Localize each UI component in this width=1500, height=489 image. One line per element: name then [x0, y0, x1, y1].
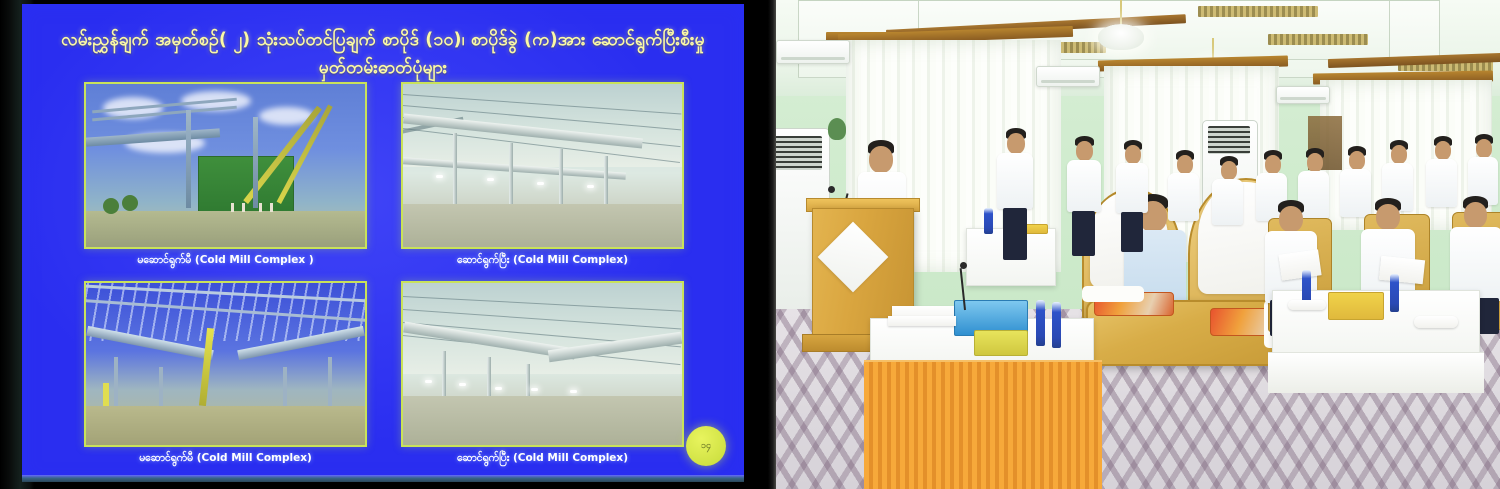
split-air-conditioner — [1036, 66, 1100, 87]
split-air-conditioner — [1276, 86, 1330, 104]
split-air-conditioner — [776, 40, 850, 64]
slide-photo-grid: မဆောင်ရွက်မီ (Cold Mill Complex ) — [84, 82, 684, 467]
ceiling-decor-panel — [1268, 34, 1368, 45]
slide-photo-cell-top-right: ဆောင်ရွက်ပြီး (Cold Mill Complex) — [401, 82, 684, 269]
seated-attendee — [1210, 156, 1246, 244]
photo-open-steel-frame — [84, 281, 367, 448]
tissue-box — [1328, 292, 1384, 320]
photo-caption: မဆောင်ရွက်မီ (Cold Mill Complex ) — [84, 254, 367, 269]
water-bottle — [1036, 300, 1045, 346]
seated-attendee — [1166, 150, 1202, 240]
slide-title-line1: လမ်းညွှန်ချက် အမှတ်စဉ်( ၂) သုံးသပ်တင်ပြခ… — [61, 30, 705, 50]
water-bottle — [1052, 302, 1061, 348]
podium-microphone-head — [828, 186, 835, 193]
attendee-head — [1177, 155, 1193, 174]
attendee-head — [1476, 139, 1492, 158]
snack-plate — [1414, 316, 1458, 328]
slide-bottom-edge — [22, 475, 744, 482]
attendee-head — [1279, 206, 1303, 232]
attendee-trousers — [1003, 208, 1027, 260]
potted-plant — [828, 118, 846, 140]
attendee-trousers — [1072, 211, 1095, 256]
armrest-lace — [1082, 286, 1144, 302]
photo-caption: မဆောင်ရွက်မီ (Cold Mill Complex) — [84, 452, 367, 467]
photo-crane-erection — [84, 82, 367, 249]
standing-attendee — [994, 128, 1036, 260]
attendee-head — [1376, 204, 1400, 230]
snack-plate — [1288, 300, 1326, 310]
attendee-head — [1435, 141, 1451, 160]
chandelier-body — [1098, 24, 1144, 50]
tissue-box — [974, 330, 1028, 356]
meeting-hall-photo — [768, 0, 1500, 489]
front-table-skirt — [864, 360, 1102, 489]
slide-photo-cell-bottom-left: မဆောင်ရွက်မီ (Cold Mill Complex) — [84, 281, 367, 468]
attendee-head — [1307, 153, 1323, 172]
stacked-papers — [888, 316, 956, 326]
slide-title: လမ်းညွှန်ချက် အမှတ်စဉ်( ၂) သုံးသပ်တင်ပြခ… — [52, 26, 714, 83]
attendee-head — [1464, 202, 1487, 228]
attendee-head — [1265, 155, 1281, 174]
attendee-head — [1007, 133, 1025, 154]
chandelier — [1098, 0, 1144, 56]
standing-attendee — [1114, 140, 1152, 250]
photo-caption: ဆောင်ရွက်ပြီး (Cold Mill Complex) — [401, 452, 684, 467]
green-factory-building — [198, 156, 295, 217]
chandelier-rod — [1120, 0, 1122, 26]
held-document — [1278, 249, 1321, 280]
standing-attendee — [1064, 136, 1104, 256]
photo-hall-bay-complete — [401, 281, 684, 448]
ceiling-decor-panel — [1198, 6, 1318, 17]
water-bottle — [984, 208, 993, 234]
attendee-shirt — [997, 153, 1033, 209]
attendee-head — [1391, 145, 1407, 164]
attendee-head — [1221, 161, 1237, 180]
water-bottle — [1390, 274, 1399, 312]
air-conditioner-grill — [1208, 126, 1250, 154]
attendee-shirt — [1168, 173, 1199, 221]
photo-caption: ဆောင်ရွက်ပြီး (Cold Mill Complex) — [401, 254, 684, 269]
table-microphone-head — [960, 262, 967, 269]
slide-title-line2: မှတ်တမ်းဓာတ်ပုံများ — [52, 54, 714, 82]
speaker-head — [869, 146, 893, 173]
attendee-trousers — [1121, 212, 1143, 252]
air-conditioner-grill — [772, 136, 822, 170]
panel-divider — [768, 0, 776, 489]
composite-image: လမ်းညွှန်ချက် အမှတ်စဉ်( ၂) သုံးသပ်တင်ပြခ… — [0, 0, 1500, 489]
slide-page-badge: ၁၄ — [686, 426, 726, 466]
audience-table-skirt — [1268, 352, 1484, 393]
attendee-head — [1076, 141, 1093, 161]
attendee-head — [1349, 151, 1365, 170]
slide-photo-cell-bottom-right: ဆောင်ရွက်ပြီး (Cold Mill Complex) — [401, 281, 684, 468]
held-document — [1379, 256, 1425, 284]
attendee-head — [1125, 145, 1141, 164]
slide-photo-cell-top-left: မဆောင်ရွက်မီ (Cold Mill Complex ) — [84, 82, 367, 269]
attendee-shirt — [1212, 179, 1243, 225]
presentation-slide: လမ်းညွှန်ချက် အမှတ်စဉ်( ၂) သုံးသပ်တင်ပြခ… — [22, 4, 744, 482]
attendee-shirt — [1116, 163, 1148, 213]
photo-hall-interior-complete — [401, 82, 684, 249]
attendee-shirt — [1067, 160, 1101, 212]
projected-slide-panel: လမ်းညွှန်ချက် အမှတ်စဉ်( ၂) သုံးသပ်တင်ပြခ… — [0, 0, 768, 489]
